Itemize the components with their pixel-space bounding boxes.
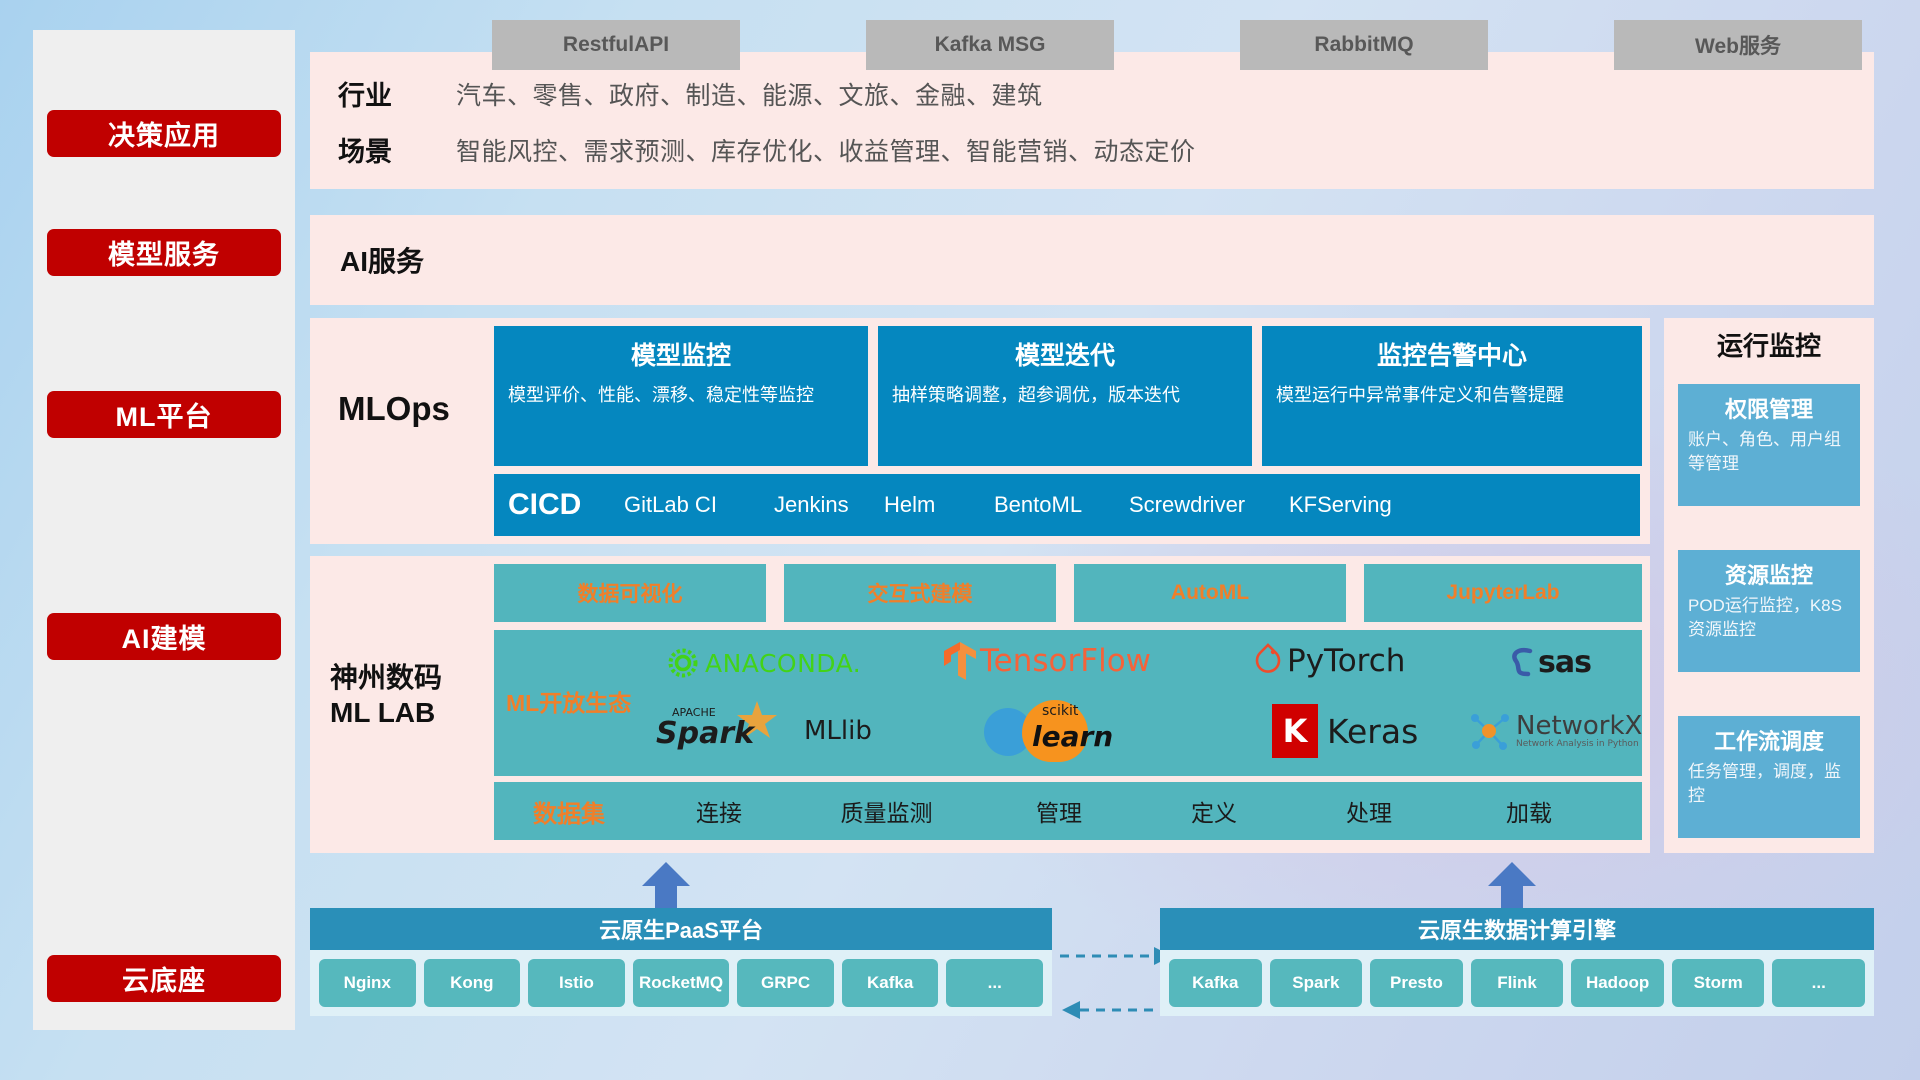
- mlops-card-desc: 模型评价、性能、漂移、稳定性等监控: [508, 382, 854, 408]
- cloud-chip-list: Nginx Kong Istio RocketMQ GRPC Kafka ...: [310, 950, 1052, 1016]
- service-chip-web-service[interactable]: Web服务: [1614, 20, 1862, 70]
- pytorch-logo: PyTorch: [1254, 638, 1405, 684]
- left-rail: 决策应用 模型服务 ML平台 AI建模 云底座: [33, 30, 295, 1030]
- mlops-card-title: 监控告警中心: [1276, 336, 1628, 372]
- cloud-chip-rocketmq[interactable]: RocketMQ: [633, 959, 730, 1007]
- spark-logo-text: Spark: [656, 716, 754, 751]
- monitor-card-workflow[interactable]: 工作流调度 任务管理，调度，监控: [1678, 716, 1860, 838]
- networkx-logo-text: NetworkX: [1516, 713, 1642, 740]
- cloud-chip-nginx[interactable]: Nginx: [319, 959, 416, 1007]
- service-chip-restfulapi[interactable]: RestfulAPI: [492, 20, 740, 70]
- tensorflow-logo-text: TensorFlow: [980, 643, 1151, 679]
- rail-item-ml-platform[interactable]: ML平台: [47, 391, 281, 438]
- monitor-card-resource[interactable]: 资源监控 POD运行监控，K8S资源监控: [1678, 550, 1860, 672]
- decision-app-panel: 行业 汽车、零售、政府、制造、能源、文旅、金融、建筑 场景 智能风控、需求预测、…: [310, 52, 1874, 189]
- ai-modeling-panel: 数据可视化 交互式建模 AutoML JupyterLab ML开放生态 ANA…: [310, 556, 1650, 853]
- dataset-item-define[interactable]: 定义: [1139, 794, 1289, 828]
- service-chip-rabbitmq[interactable]: RabbitMQ: [1240, 20, 1488, 70]
- cloud-chip-presto[interactable]: Presto: [1370, 959, 1463, 1007]
- cicd-bar: CICD GitLab CI Jenkins Helm BentoML Scre…: [494, 474, 1640, 536]
- mlops-card-desc: 抽样策略调整，超参调优，版本迭代: [892, 382, 1238, 408]
- cloud-chip-kong[interactable]: Kong: [424, 959, 521, 1007]
- mlops-card-model-iteration[interactable]: 模型迭代 抽样策略调整，超参调优，版本迭代: [878, 326, 1252, 466]
- tool-chip-automl[interactable]: AutoML: [1074, 564, 1346, 622]
- bidirectional-connector: [1058, 940, 1176, 1026]
- cloud-chip-storm[interactable]: Storm: [1672, 959, 1765, 1007]
- scikit-learn-logo: scikit learn: [984, 700, 1144, 762]
- cloud-chip-kafka[interactable]: Kafka: [842, 959, 939, 1007]
- tensorflow-logo: TensorFlow: [942, 636, 1151, 686]
- cloud-block-title: 云原生PaaS平台: [310, 908, 1052, 950]
- sas-logo-text: sas: [1538, 645, 1591, 680]
- cicd-item-kfserving[interactable]: KFServing: [1289, 493, 1439, 516]
- rail-item-decision-app[interactable]: 决策应用: [47, 110, 281, 157]
- scikit-text: scikit: [1042, 703, 1078, 719]
- ml-ecosystem-box: ML开放生态 ANACONDA. TensorFlow PyTorch: [494, 630, 1642, 776]
- dataset-item-load[interactable]: 加载: [1449, 794, 1609, 828]
- cloud-block-data-engine: 云原生数据计算引擎 Kafka Spark Presto Flink Hadoo…: [1160, 908, 1874, 1016]
- cicd-item-screwdriver[interactable]: Screwdriver: [1129, 493, 1289, 516]
- cloud-block-paas: 云原生PaaS平台 Nginx Kong Istio RocketMQ GRPC…: [310, 908, 1052, 1016]
- tool-chip-interactive-modeling[interactable]: 交互式建模: [784, 564, 1056, 622]
- tool-chip-jupyterlab[interactable]: JupyterLab: [1364, 564, 1642, 622]
- mlops-panel: 模型监控 模型评价、性能、漂移、稳定性等监控 模型迭代 抽样策略调整，超参调优，…: [310, 318, 1650, 544]
- mlops-card-alert-center[interactable]: 监控告警中心 模型运行中异常事件定义和告警提醒: [1262, 326, 1642, 466]
- cicd-item-helm[interactable]: Helm: [884, 493, 994, 516]
- monitor-card-permission[interactable]: 权限管理 账户、角色、用户组等管理: [1678, 384, 1860, 506]
- monitor-card-desc: POD运行监控，K8S资源监控: [1688, 594, 1850, 642]
- cloud-chip-list: Kafka Spark Presto Flink Hadoop Storm ..…: [1160, 950, 1874, 1016]
- ml-lab-label-cn: 神州数码: [330, 660, 442, 695]
- up-arrow-data-engine: [1486, 862, 1538, 908]
- mlops-card-title: 模型监控: [508, 336, 854, 372]
- cloud-chip-more[interactable]: ...: [946, 959, 1043, 1007]
- dataset-item-connect[interactable]: 连接: [644, 794, 794, 828]
- cloud-chip-spark[interactable]: Spark: [1270, 959, 1363, 1007]
- cicd-item-gitlab-ci[interactable]: GitLab CI: [624, 493, 774, 516]
- sas-logo: sas: [1504, 640, 1591, 684]
- ai-service-panel: [310, 215, 1874, 305]
- service-chip-kafka-msg[interactable]: Kafka MSG: [866, 20, 1114, 70]
- anaconda-logo-text: ANACONDA.: [705, 649, 861, 678]
- ml-ecosystem-label: ML开放生态: [506, 684, 654, 718]
- monitor-card-title: 资源监控: [1688, 558, 1850, 590]
- dataset-item-manage[interactable]: 管理: [979, 794, 1139, 828]
- cloud-chip-hadoop[interactable]: Hadoop: [1571, 959, 1664, 1007]
- tool-chip-data-visualization[interactable]: 数据可视化: [494, 564, 766, 622]
- industry-row: 行业 汽车、零售、政府、制造、能源、文旅、金融、建筑: [338, 74, 1043, 113]
- cloud-chip-istio[interactable]: Istio: [528, 959, 625, 1007]
- industry-value: 汽车、零售、政府、制造、能源、文旅、金融、建筑: [456, 76, 1043, 112]
- keras-logo-text: Keras: [1327, 712, 1418, 751]
- mlops-label: MLOps: [338, 390, 450, 428]
- keras-mark-text: K: [1283, 712, 1308, 750]
- networkx-logo: NetworkX Network Analysis in Python: [1469, 706, 1642, 756]
- monitor-card-desc: 账户、角色、用户组等管理: [1688, 428, 1850, 476]
- cloud-chip-flink[interactable]: Flink: [1471, 959, 1564, 1007]
- networkx-tagline: Network Analysis in Python: [1516, 740, 1642, 749]
- ml-lab-label: 神州数码 ML LAB: [330, 660, 442, 730]
- scenario-key: 场景: [338, 130, 456, 169]
- dataset-item-process[interactable]: 处理: [1289, 794, 1449, 828]
- industry-key: 行业: [338, 74, 456, 113]
- keras-logo: K Keras: [1272, 704, 1418, 758]
- mlops-card-model-monitoring[interactable]: 模型监控 模型评价、性能、漂移、稳定性等监控: [494, 326, 868, 466]
- rail-item-cloud-base[interactable]: 云底座: [47, 955, 281, 1002]
- cloud-chip-more[interactable]: ...: [1772, 959, 1865, 1007]
- cicd-item-bentoml[interactable]: BentoML: [994, 493, 1129, 516]
- monitor-card-desc: 任务管理，调度，监控: [1688, 760, 1850, 808]
- ml-lab-label-en: ML LAB: [330, 695, 435, 730]
- learn-text: learn: [1032, 720, 1113, 753]
- up-arrow-paas: [640, 862, 692, 908]
- mllib-logo-text: MLlib: [804, 716, 872, 746]
- cicd-title: CICD: [494, 488, 624, 522]
- rail-item-model-service[interactable]: 模型服务: [47, 229, 281, 276]
- scenario-value: 智能风控、需求预测、库存优化、收益管理、智能营销、动态定价: [456, 132, 1196, 168]
- cloud-chip-kafka[interactable]: Kafka: [1169, 959, 1262, 1007]
- monitor-card-title: 权限管理: [1688, 392, 1850, 424]
- pytorch-logo-text: PyTorch: [1287, 643, 1405, 679]
- cloud-chip-grpc[interactable]: GRPC: [737, 959, 834, 1007]
- ai-service-label: AI服务: [340, 215, 424, 305]
- dataset-bar: 数据集 连接 质量监测 管理 定义 处理 加载: [494, 782, 1642, 840]
- monitor-card-title: 工作流调度: [1688, 724, 1850, 756]
- cicd-item-jenkins[interactable]: Jenkins: [774, 493, 884, 516]
- mlops-card-desc: 模型运行中异常事件定义和告警提醒: [1276, 382, 1628, 408]
- runtime-monitoring-title: 运行监控: [1664, 326, 1874, 363]
- rail-item-ai-modeling[interactable]: AI建模: [47, 613, 281, 660]
- spark-mllib-logo: APACHE Spark MLlib: [652, 702, 872, 760]
- cloud-block-title: 云原生数据计算引擎: [1160, 908, 1874, 950]
- mlops-card-title: 模型迭代: [892, 336, 1238, 372]
- runtime-monitoring-panel: 运行监控 权限管理 账户、角色、用户组等管理 资源监控 POD运行监控，K8S资…: [1664, 318, 1874, 853]
- scenario-row: 场景 智能风控、需求预测、库存优化、收益管理、智能营销、动态定价: [338, 130, 1196, 169]
- dataset-title: 数据集: [494, 794, 644, 829]
- dataset-item-quality[interactable]: 质量监测: [794, 794, 979, 828]
- anaconda-logo: ANACONDA.: [666, 640, 861, 686]
